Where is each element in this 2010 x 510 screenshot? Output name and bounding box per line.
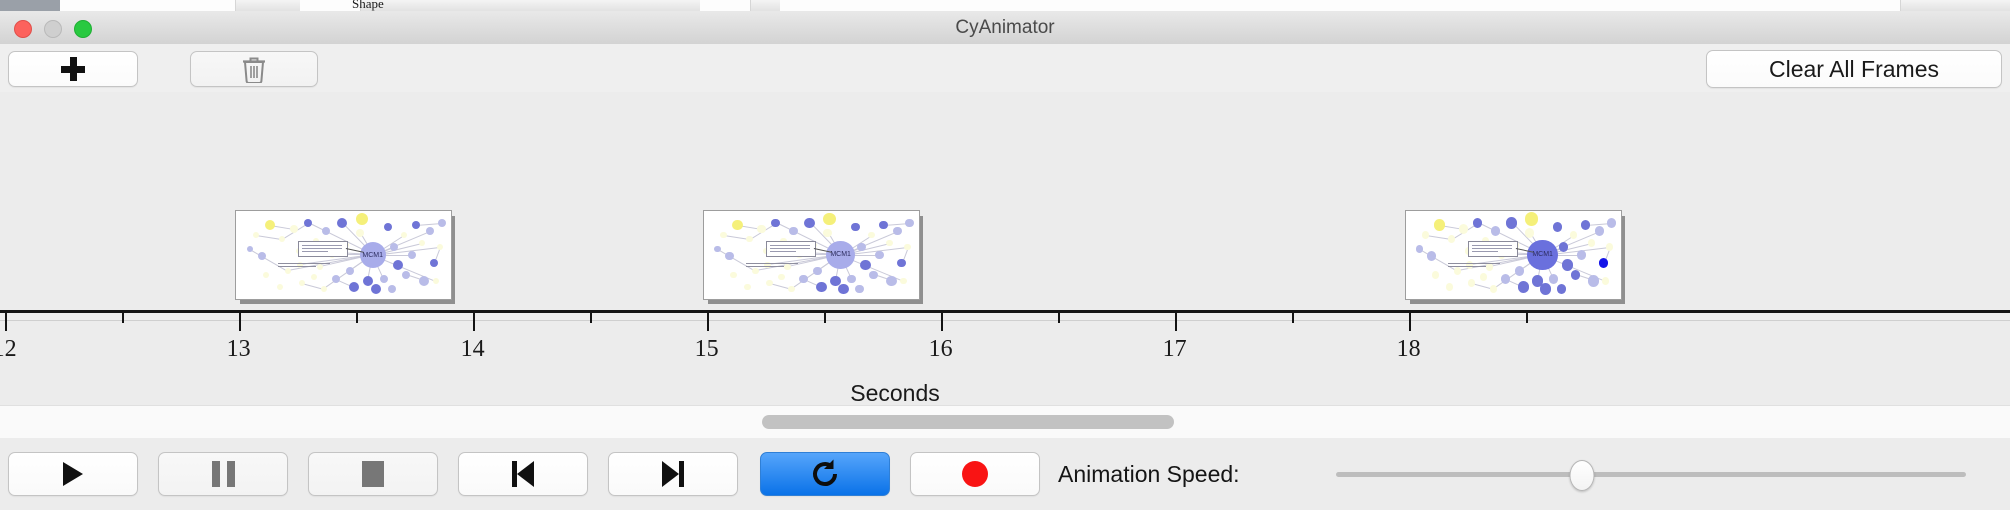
network-node (1448, 235, 1455, 242)
annotation-callout (298, 241, 348, 257)
network-node (813, 267, 822, 276)
network-node (332, 275, 340, 283)
network-caption-line (278, 263, 330, 264)
network-node (1571, 270, 1580, 279)
add-frame-button[interactable] (8, 51, 138, 87)
axis-tick-major (5, 312, 7, 331)
network-node (1518, 281, 1529, 292)
pause-button[interactable] (158, 452, 288, 496)
network-node (380, 275, 388, 283)
network-node (430, 259, 438, 267)
network-node (1491, 226, 1500, 235)
callout-text-line (302, 251, 328, 252)
network-node (426, 227, 434, 235)
network-node (408, 251, 416, 259)
axis-tick-major (707, 312, 709, 331)
axis-tick-minor (1292, 312, 1294, 323)
network-node (732, 220, 743, 231)
axis-tick-label: 18 (1397, 336, 1421, 363)
callout-text-line (1472, 251, 1498, 252)
network-node (299, 280, 305, 286)
network-node (337, 218, 347, 228)
network-node (390, 243, 398, 251)
axis-tick-minor (122, 312, 124, 323)
network-node (1595, 226, 1604, 235)
playback-controls: Animation Speed: (0, 438, 2010, 510)
network-node (433, 278, 439, 284)
annotation-callout (766, 241, 816, 257)
network-node (869, 271, 878, 280)
timeline-scrollbar-thumb[interactable] (762, 415, 1174, 429)
clear-all-frames-button[interactable]: Clear All Frames (1706, 50, 2002, 88)
network-hub-node: MCM1 (1527, 240, 1558, 271)
network-node (1607, 218, 1616, 227)
network-node (900, 278, 907, 285)
network-node (304, 219, 312, 227)
network-caption-line (1448, 263, 1500, 264)
play-button[interactable] (8, 452, 138, 496)
skip-back-icon (512, 461, 534, 487)
network-node (285, 268, 291, 274)
network-thumbnail: MCM1 (704, 211, 919, 299)
bg-seg (700, 0, 751, 11)
network-node (784, 264, 791, 271)
bg-seg (60, 0, 151, 11)
network-node (371, 284, 381, 294)
network-node (419, 276, 429, 286)
animation-speed-slider[interactable] (1336, 472, 1966, 477)
network-node (290, 225, 298, 233)
network-node (1588, 275, 1599, 286)
stop-icon (362, 461, 384, 487)
skip-end-button[interactable] (608, 452, 738, 496)
network-node (346, 267, 354, 275)
frame-thumbnail: MCM1 (1405, 210, 1622, 300)
network-node (1559, 242, 1568, 251)
axis-tick-label: 15 (695, 336, 719, 363)
network-node (771, 219, 780, 228)
timeline-frame[interactable]: MCM1 (1405, 210, 1625, 302)
network-node (1422, 231, 1429, 238)
network-node (253, 232, 259, 238)
network-node (1515, 266, 1524, 275)
play-icon (63, 462, 83, 486)
network-hub-node: MCM1 (360, 242, 386, 268)
axis-tick-minor (590, 312, 592, 323)
network-node (263, 272, 269, 278)
network-thumbnail: MCM1 (236, 211, 451, 299)
network-caption-line (278, 266, 316, 267)
network-node (401, 232, 407, 238)
network-node (893, 227, 902, 236)
network-node (875, 251, 884, 260)
network-node (393, 260, 403, 270)
network-node (746, 236, 753, 243)
network-node (1562, 259, 1573, 270)
skip-forward-icon (662, 461, 684, 487)
axis-tick-minor (1058, 312, 1060, 323)
plus-icon (61, 57, 85, 81)
network-node (847, 275, 856, 284)
trash-icon (241, 55, 267, 83)
network-node (799, 275, 808, 284)
network-node (1446, 283, 1453, 290)
network-node (1490, 285, 1497, 292)
network-node (1602, 277, 1609, 284)
network-node (766, 280, 773, 287)
axis-title: Seconds (0, 380, 2010, 407)
loop-button[interactable] (760, 452, 890, 496)
network-node (437, 244, 443, 250)
network-node (904, 244, 911, 251)
network-node (1454, 267, 1461, 274)
network-node (816, 282, 827, 293)
network-node (1570, 231, 1577, 238)
callout-text-line (770, 245, 810, 246)
network-node (789, 227, 798, 236)
network-node (752, 268, 759, 275)
axis-tick-minor (824, 312, 826, 323)
network-node (868, 232, 875, 239)
network-node (788, 286, 795, 293)
skip-start-button[interactable] (458, 452, 588, 496)
network-node (1588, 239, 1595, 246)
axis-tick-major (1175, 312, 1177, 331)
network-node (1501, 274, 1510, 283)
network-node (1480, 273, 1487, 280)
network-node (1525, 212, 1538, 225)
callout-text-line (1472, 248, 1512, 249)
network-node (838, 284, 849, 295)
network-node (744, 284, 751, 291)
network-node (247, 246, 253, 252)
bg-seg (780, 0, 1901, 11)
timeline-frame[interactable]: MCM1 (703, 210, 923, 302)
axis-tick-minor (356, 312, 358, 323)
network-edge (256, 235, 282, 240)
record-button[interactable] (910, 452, 1040, 496)
axis-tick-major (239, 312, 241, 331)
network-node (438, 219, 446, 227)
stop-button[interactable] (308, 452, 438, 496)
network-node (388, 285, 396, 293)
network-node (886, 240, 893, 247)
network-node (855, 285, 864, 294)
delete-frame-button[interactable] (190, 51, 318, 87)
network-node (851, 223, 860, 232)
network-node (1557, 284, 1566, 293)
network-caption-line (1448, 266, 1486, 267)
callout-text-line (302, 245, 342, 246)
pause-icon (212, 461, 235, 487)
network-node (905, 219, 914, 228)
animation-speed-slider-thumb[interactable] (1569, 460, 1594, 491)
network-node (279, 236, 285, 242)
timeline-frame[interactable]: MCM1 (235, 210, 455, 302)
network-thumbnail: MCM1 (1406, 211, 1621, 299)
network-caption-line (746, 263, 798, 264)
frame-thumbnail: MCM1 (703, 210, 920, 300)
network-node (1468, 279, 1475, 286)
network-hub-node: MCM1 (826, 241, 854, 269)
network-node (1606, 243, 1613, 250)
record-icon (962, 461, 988, 487)
network-node (349, 282, 359, 292)
axis-tick-minor (1526, 312, 1528, 323)
network-node (1549, 274, 1558, 283)
network-node (1486, 263, 1493, 270)
network-node (757, 225, 766, 234)
axis-tick-major (473, 312, 475, 331)
network-node (317, 264, 323, 270)
network-node (1473, 218, 1482, 227)
clear-all-frames-label: Clear All Frames (1769, 56, 1939, 83)
callout-text-line (770, 248, 810, 249)
network-node (311, 274, 317, 280)
cyanimator-window: Shape CyAnimator Clear All Frames (0, 0, 2010, 510)
network-node (1427, 251, 1436, 260)
network-node (384, 223, 392, 231)
network-node (879, 221, 888, 230)
network-node (1581, 220, 1590, 229)
network-node (402, 271, 410, 279)
toolbar: Clear All Frames (0, 44, 2010, 93)
window-title: CyAnimator (0, 11, 2010, 44)
timeline-axis (0, 310, 2010, 313)
axis-tick-label: 13 (227, 336, 251, 363)
network-node (1434, 219, 1445, 230)
network-node (1553, 222, 1562, 231)
network-node (720, 232, 727, 239)
network-node (1459, 224, 1468, 233)
network-node (1432, 271, 1439, 278)
network-node (1540, 283, 1551, 294)
network-node (1416, 245, 1423, 252)
network-node (277, 284, 283, 290)
animation-speed-label: Animation Speed: (1058, 452, 1240, 496)
network-node (322, 227, 330, 235)
network-node (897, 259, 906, 268)
loop-icon (809, 458, 841, 490)
bg-seg (190, 0, 236, 11)
axis-tick-label: 17 (1163, 336, 1187, 363)
axis-tick-major (1409, 312, 1411, 331)
network-node (730, 272, 737, 279)
title-bar: CyAnimator (0, 11, 2010, 45)
network-node (412, 221, 420, 229)
timeline-scrollbar-track[interactable] (0, 405, 2010, 439)
network-node (265, 220, 275, 230)
network-node (419, 240, 425, 246)
network-caption-line (746, 266, 784, 267)
callout-text-line (302, 248, 342, 249)
network-node (363, 276, 373, 286)
axis-tick-label: 14 (461, 336, 485, 363)
axis-tick-label: 12 (0, 336, 17, 363)
network-node (1525, 228, 1534, 237)
bg-seg (0, 0, 61, 11)
network-node (778, 274, 785, 281)
network-node (356, 213, 368, 225)
network-node (321, 286, 327, 292)
network-node (886, 276, 897, 287)
network-node (1577, 250, 1586, 259)
network-node (258, 252, 266, 260)
callout-text-line (1472, 245, 1512, 246)
network-node (356, 229, 364, 237)
network-node (1599, 258, 1608, 267)
bg-seg (150, 0, 191, 11)
network-node (1506, 217, 1517, 228)
frame-thumbnail: MCM1 (235, 210, 452, 300)
axis-tick-major (941, 312, 943, 331)
callout-text-line (770, 251, 796, 252)
axis-tick-label: 16 (929, 336, 953, 363)
annotation-callout (1468, 241, 1518, 257)
network-node (860, 260, 871, 271)
network-node (823, 213, 836, 226)
